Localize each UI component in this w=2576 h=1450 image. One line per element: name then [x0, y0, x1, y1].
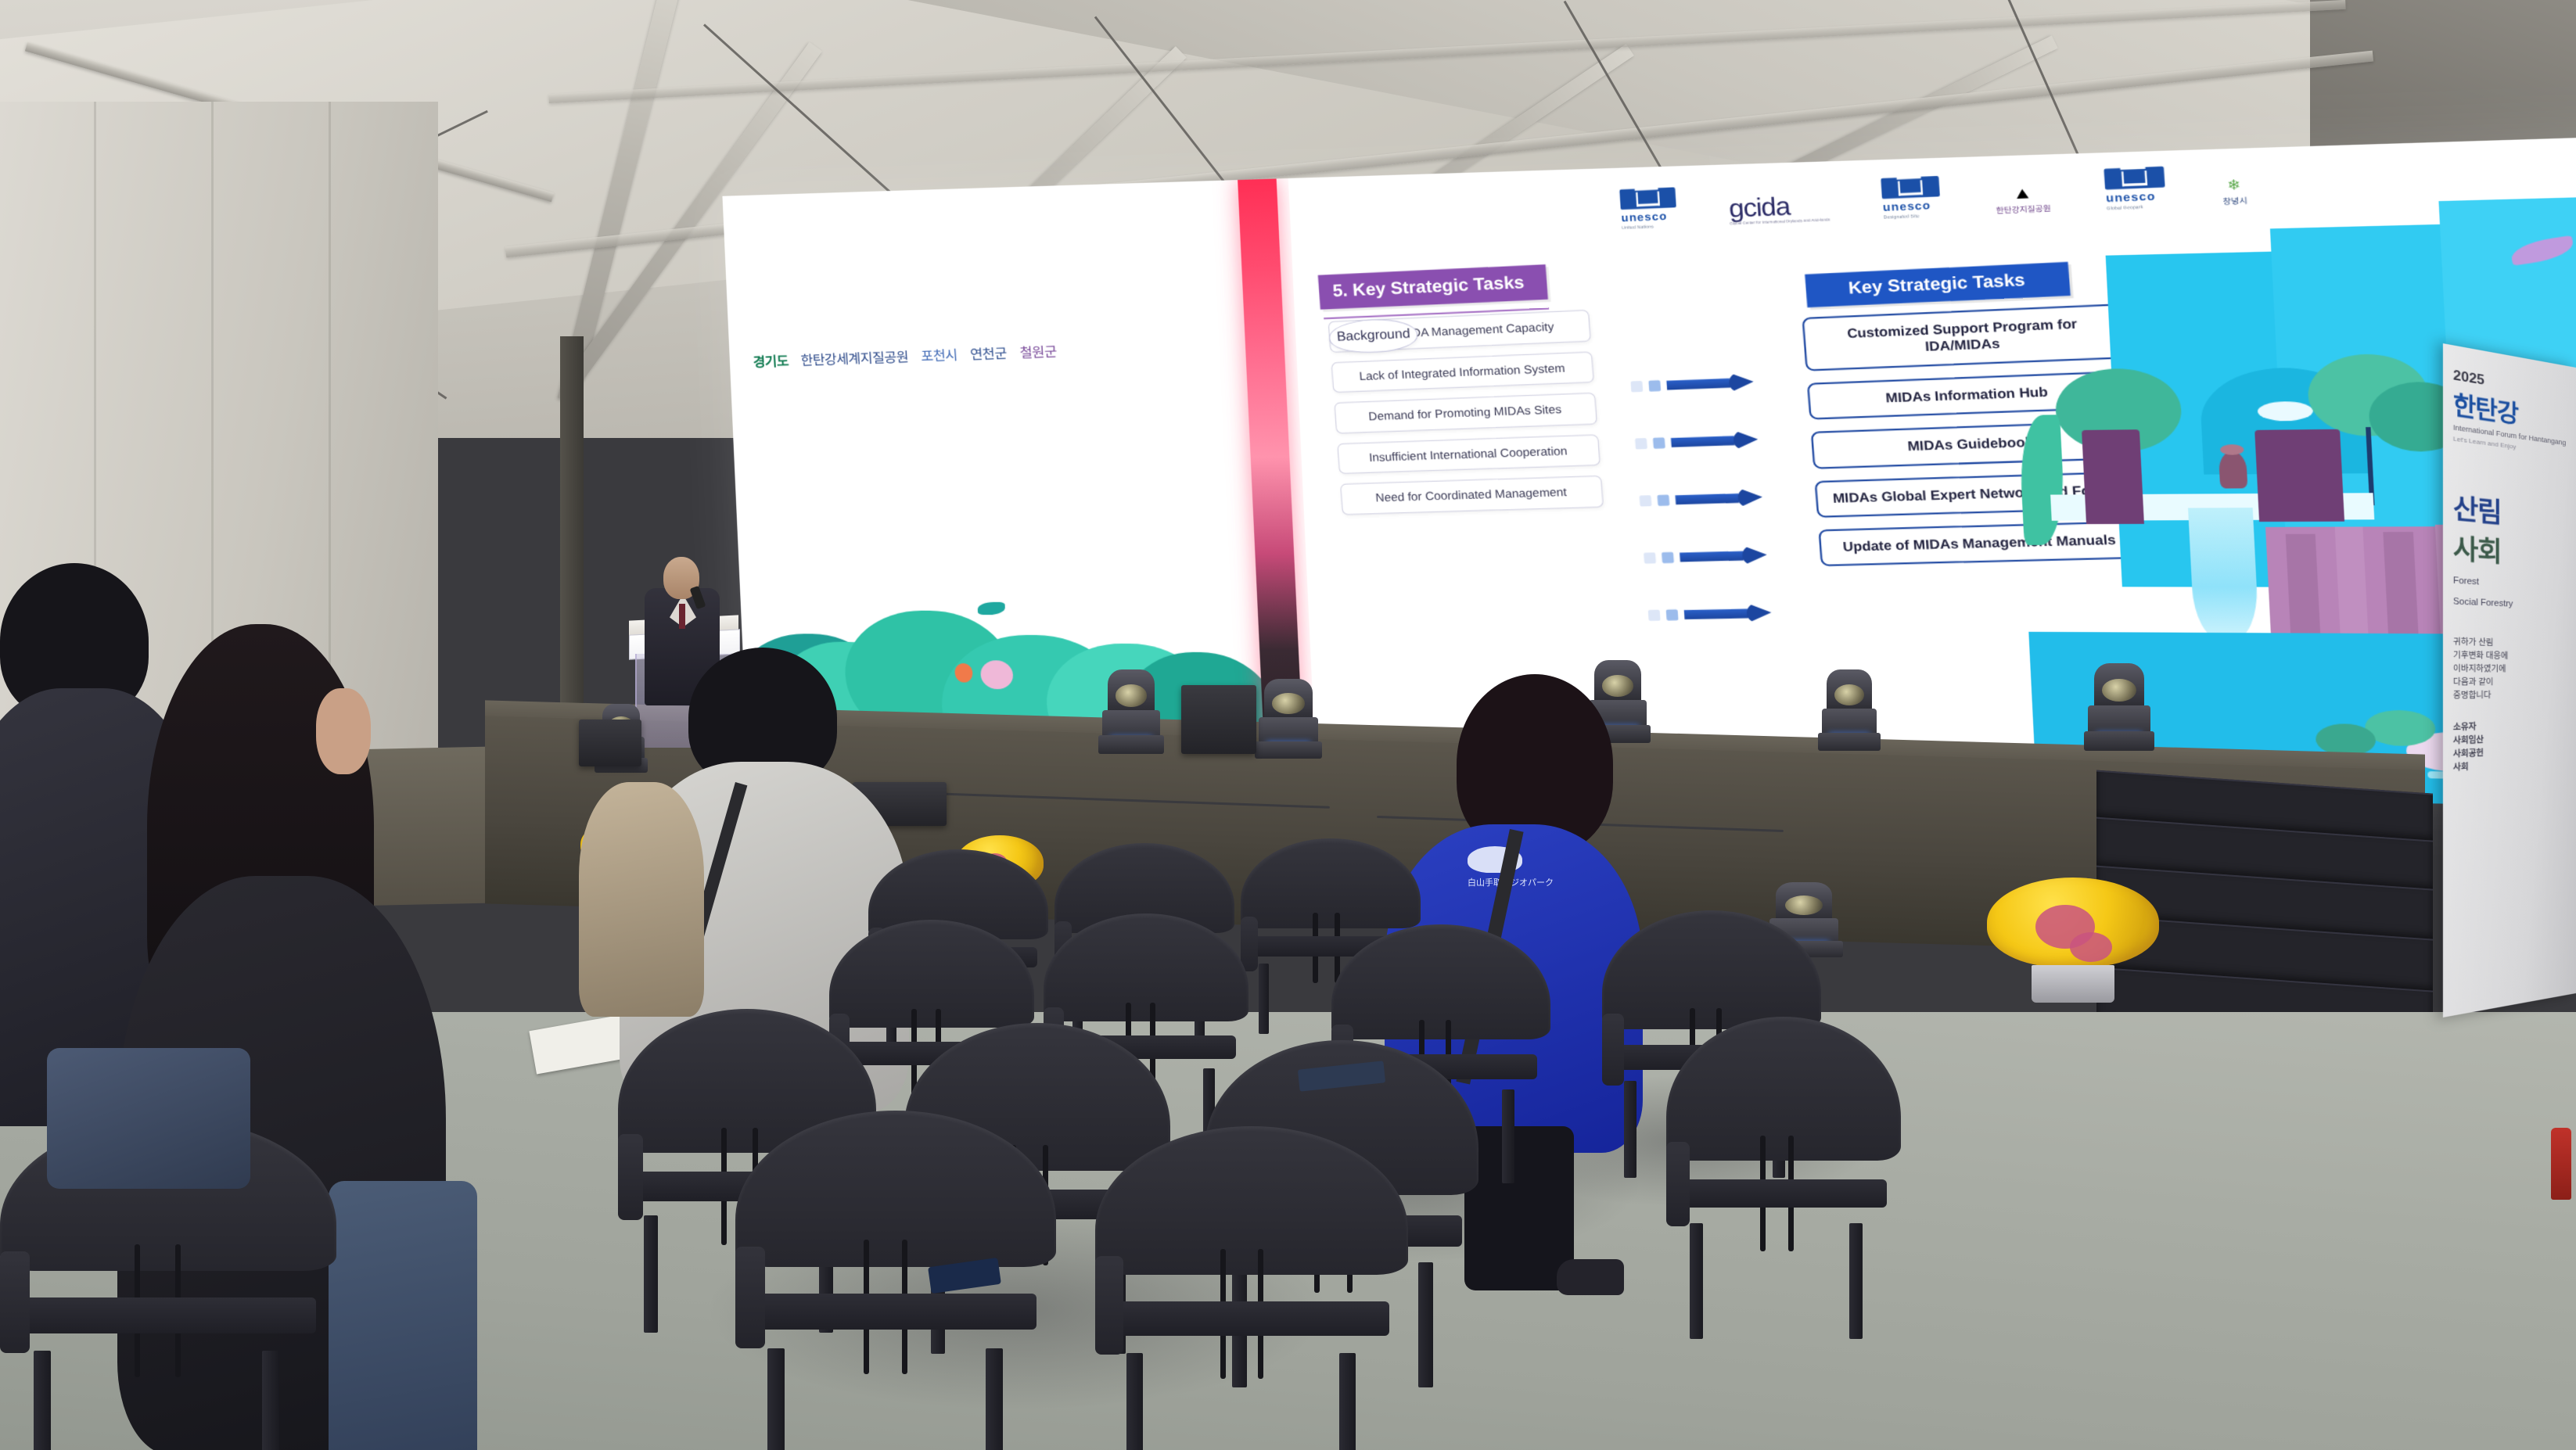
seat-item-bag — [47, 1048, 250, 1189]
arrow-square-faint-3 — [1639, 495, 1651, 506]
attendee-long-hair-jeans — [329, 1181, 477, 1450]
arrow-square-mid-1 — [1648, 380, 1661, 392]
gcida-logo: gcida Global Center for International Dr… — [1728, 193, 1830, 226]
chair-r4-c3[interactable] — [1095, 1126, 1408, 1450]
logo-cheorwon: 철원군 — [1019, 340, 1058, 361]
logo-pocheon: 포천시 — [920, 344, 957, 365]
banner-body-line-5: 증명합니다 — [2453, 689, 2567, 703]
banner-body-line-3: 이바지하였기에 — [2453, 663, 2567, 677]
arrow-square-mid-3 — [1657, 494, 1669, 505]
foliage-bird — [977, 602, 1005, 615]
arrow-row-3 — [1639, 484, 1804, 513]
left-column-item-3: Demand for Promoting MIDAs Sites — [1334, 393, 1597, 433]
fern-left — [2018, 415, 2067, 545]
left-column-item-4: Insufficient International Cooperation — [1337, 434, 1601, 474]
cliff-purple-2 — [2254, 429, 2344, 522]
left-column-item-2: Lack of Integrated Information System — [1331, 351, 1593, 393]
unesco-logo-2: unesco Designated Site — [1881, 176, 1942, 221]
cliff-purple-1 — [2082, 429, 2144, 524]
banner-english-line-1: Forest — [2453, 575, 2567, 593]
chrysanthemum-pot-4 — [1987, 878, 2159, 1003]
fire-extinguisher — [2551, 1128, 2571, 1200]
equipment-case-2 — [579, 720, 641, 766]
arrow-square-mid-5 — [1666, 609, 1679, 620]
arrow-square-faint-1 — [1630, 381, 1643, 393]
slide-section-title: 5. Key Strategic Tasks — [1318, 264, 1549, 310]
banner-english-line-2: Social Forestry — [2453, 595, 2567, 612]
chair-r3-c4[interactable] — [1666, 1017, 1901, 1330]
attendee-grey-coat-neighbour — [579, 782, 704, 1017]
right-arrow-icon-4 — [1680, 548, 1768, 564]
arrow-square-faint-4 — [1644, 552, 1656, 563]
partner-logo-row: 경기도 한탄강세계지질공원 포천시 연천군 철원군 — [753, 340, 1058, 371]
banner-body-line-2: 기후변화 대응에 — [2453, 650, 2567, 665]
moving-head-light-7[interactable] — [2084, 663, 2154, 751]
left-column-item-5: Need for Coordinated Management — [1340, 476, 1604, 515]
chair-r4-c2[interactable] — [735, 1111, 1056, 1450]
banner-body-line-4: 다음과 같이 — [2453, 677, 2567, 690]
right-arrow-icon-2 — [1671, 432, 1759, 449]
moving-head-light-6[interactable] — [1818, 669, 1881, 751]
arrow-square-faint-5 — [1648, 609, 1661, 620]
arrow-square-mid-4 — [1662, 551, 1674, 562]
arrow-row-5 — [1647, 600, 1813, 627]
attendee-long-hair-face — [316, 688, 371, 774]
arrow-row-1 — [1630, 368, 1795, 398]
unesco-wordmark: unesco — [1621, 210, 1668, 224]
unesco-subtext: United Nations — [1622, 224, 1654, 231]
moving-head-light-4[interactable] — [1255, 679, 1322, 759]
unesco-wordmark-2: unesco — [1882, 199, 1931, 214]
slide-arrow-column — [1630, 368, 1816, 661]
attendee-blue-jacket-shoe — [1557, 1259, 1624, 1295]
right-arrow-icon-1 — [1666, 375, 1754, 392]
unesco-logo-1: unesco United Nations — [1619, 187, 1677, 231]
foliage-flower-orange — [954, 663, 973, 683]
arrow-row-2 — [1634, 426, 1799, 455]
speaker-tie — [679, 604, 685, 629]
arrow-square-faint-2 — [1635, 438, 1647, 449]
stage-monitor-speaker — [1181, 685, 1256, 754]
moving-head-light-3[interactable] — [1098, 669, 1164, 754]
logo-gyeonggi: 경기도 — [753, 350, 789, 371]
arrow-row-4 — [1643, 542, 1808, 570]
conference-scene: 경기도 한탄강세계지질공원 포천시 연천군 철원군 — [0, 0, 2576, 1450]
slide-left-column: Background Gaps in IDA Management Capaci… — [1328, 310, 1604, 525]
unesco-subtext-2: Designated Site — [1884, 214, 1920, 220]
pink-blossom-5 — [2070, 932, 2112, 962]
gcida-wordmark: gcida — [1728, 193, 1830, 221]
right-arrow-icon-3 — [1675, 490, 1762, 507]
logo-yeoncheon: 연천군 — [969, 342, 1007, 363]
logo-hantangang-geopark: 한탄강세계지질공원 — [800, 346, 909, 369]
waterfall-upper — [2188, 508, 2259, 640]
unesco-temple-icon — [1619, 187, 1676, 210]
event-side-banner: 2025 한탄강 International Forum for Hantang… — [2443, 343, 2576, 1018]
arrow-square-mid-2 — [1653, 437, 1665, 449]
unesco-temple-icon-2 — [1881, 176, 1941, 199]
right-arrow-icon-5 — [1683, 605, 1772, 621]
